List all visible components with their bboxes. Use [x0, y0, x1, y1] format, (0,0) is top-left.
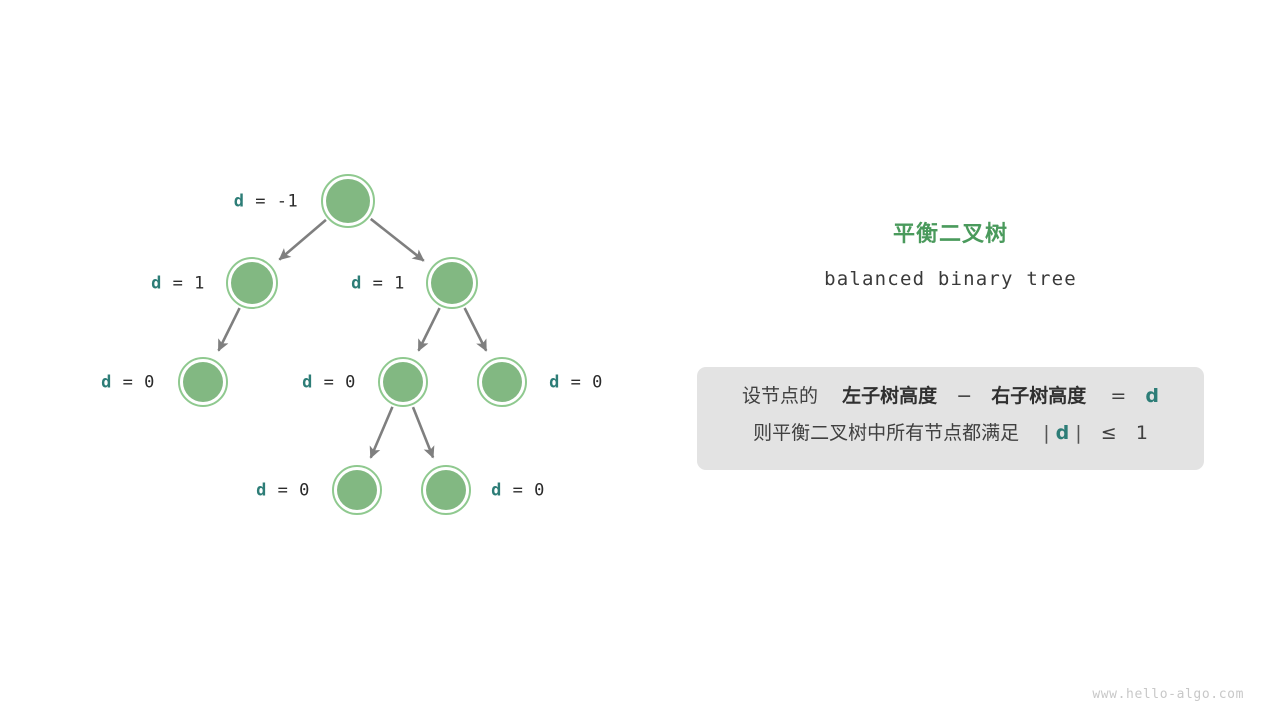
formula-box: 设节点的 左子树高度 − 右子树高度 = d 则平衡二叉树中所有节点都满足 | … [697, 367, 1204, 470]
degree-variable: d [151, 274, 162, 294]
node-degree-label: d = 0 [256, 483, 310, 500]
degree-value: = 1 [362, 274, 405, 294]
node-layer [179, 175, 526, 514]
node-fill [231, 262, 273, 304]
panel-subtitle: balanced binary tree [697, 268, 1204, 291]
formula-right-height: 右子树高度 [991, 385, 1086, 407]
degree-variable: d [101, 373, 112, 393]
node-degree-label: d = -1 [234, 194, 298, 211]
degree-value: = 1 [162, 274, 205, 294]
tree-node [227, 258, 277, 308]
degree-variable: d [302, 373, 313, 393]
tree-edge [371, 407, 393, 458]
node-degree-label: d = 0 [101, 375, 155, 392]
tree-node [422, 466, 470, 514]
tree-edge [465, 308, 487, 351]
formula-minus: − [956, 385, 972, 407]
watermark: www.hello-algo.com [1092, 687, 1244, 702]
tree-edge [413, 407, 433, 457]
degree-value: = -1 [245, 192, 299, 212]
tree-node [379, 358, 427, 406]
formula-bound-value: 1 [1136, 422, 1148, 444]
node-fill [183, 362, 223, 402]
tree-node [322, 175, 374, 227]
node-degree-label: d = 0 [549, 375, 603, 392]
abs-bar-right: | [1075, 422, 1081, 444]
formula-line-2: 则平衡二叉树中所有节点都满足 | d | ≤ 1 [697, 424, 1204, 443]
abs-bar-left: | [1043, 422, 1049, 444]
tree-node [427, 258, 477, 308]
node-fill [431, 262, 473, 304]
node-degree-label: d = 1 [151, 276, 205, 293]
degree-value: = 0 [267, 481, 310, 501]
node-fill [426, 470, 466, 510]
formula-prefix: 设节点的 [742, 385, 818, 407]
formula-line-1: 设节点的 左子树高度 − 右子树高度 = d [697, 387, 1204, 406]
degree-variable: d [256, 481, 267, 501]
degree-variable: d [491, 481, 502, 501]
formula-equals: = [1110, 385, 1126, 407]
formula-relation: ≤ [1101, 422, 1117, 444]
degree-value: = 0 [112, 373, 155, 393]
page-title: 平衡二叉树 [697, 222, 1204, 248]
node-degree-label: d = 0 [491, 483, 545, 500]
formula-variable-d-abs: d [1056, 422, 1070, 444]
diagram-canvas: d = -1d = 1d = 1d = 0d = 0d = 0d = 0d = … [0, 0, 1280, 720]
degree-variable: d [234, 192, 245, 212]
formula-condition-prefix: 则平衡二叉树中所有节点都满足 [753, 422, 1019, 444]
formula-left-height: 左子树高度 [842, 385, 937, 407]
tree-node [478, 358, 526, 406]
binary-tree-graphic [0, 0, 1280, 720]
degree-variable: d [549, 373, 560, 393]
tree-edge [219, 308, 240, 351]
formula-variable-d: d [1145, 385, 1159, 407]
node-fill [383, 362, 423, 402]
tree-node [179, 358, 227, 406]
tree-edge [279, 220, 326, 260]
tree-edge [419, 308, 440, 351]
node-fill [482, 362, 522, 402]
degree-variable: d [351, 274, 362, 294]
edge-layer [219, 219, 487, 458]
node-fill [326, 179, 370, 223]
node-degree-label: d = 0 [302, 375, 356, 392]
degree-value: = 0 [313, 373, 356, 393]
info-panel: 平衡二叉树 balanced binary tree [697, 222, 1204, 291]
tree-node [333, 466, 381, 514]
node-fill [337, 470, 377, 510]
node-degree-label: d = 1 [351, 276, 405, 293]
degree-value: = 0 [560, 373, 603, 393]
tree-edge [371, 219, 424, 261]
degree-value: = 0 [502, 481, 545, 501]
